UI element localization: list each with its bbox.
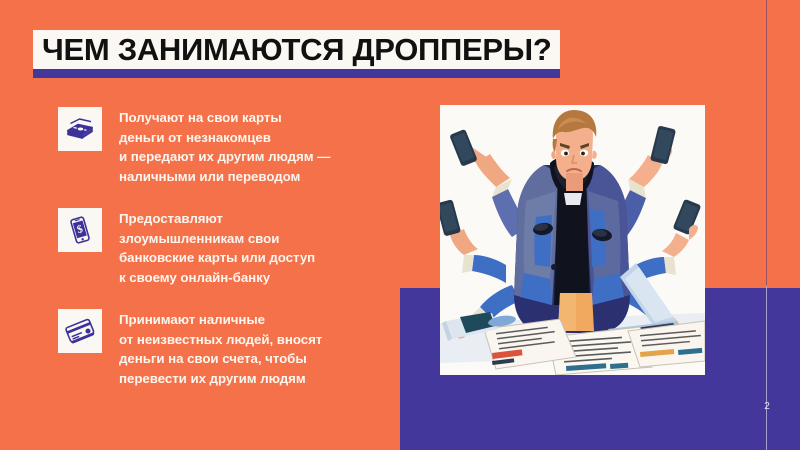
slide: ЧЕМ ЗАНИМАЮТСЯ ДРОППЕРЫ? (0, 0, 800, 450)
list-item-text: Принимают наличные от неизвестных людей,… (119, 309, 322, 388)
page-title: ЧЕМ ЗАНИМАЮТСЯ ДРОППЕРЫ? (33, 30, 560, 78)
bullet-line: к своему онлайн-банку (119, 268, 315, 288)
list-item: Принимают наличные от неизвестных людей,… (58, 309, 388, 388)
bullet-line: злоумышленникам свои (119, 229, 315, 249)
bullet-line: деньги от незнакомцев (119, 128, 330, 148)
title-text: ЧЕМ ЗАНИМАЮТСЯ ДРОППЕРЫ? (42, 33, 551, 67)
bullet-list: Получают на свои карты деньги от незнако… (58, 107, 388, 410)
bullet-line: перевести их другим людям (119, 369, 322, 389)
page-number: 2 (758, 401, 776, 413)
bullet-line: банковские карты или доступ (119, 248, 315, 268)
list-item-text: Получают на свои карты деньги от незнако… (119, 107, 330, 186)
bullet-line: Получают на свои карты (119, 108, 330, 128)
mobile-banking-icon: $ (58, 208, 102, 252)
list-item-text: Предоставляют злоумышленникам свои банко… (119, 208, 315, 287)
bullet-line: Принимают наличные (119, 310, 322, 330)
bullet-line: Предоставляют (119, 209, 315, 229)
money-mule-multiple-phones-illustration (440, 105, 705, 375)
right-edge-rule (766, 0, 767, 450)
list-item: $ Предоставляют злоумышленникам свои бан… (58, 208, 388, 287)
title-bar: ЧЕМ ЗАНИМАЮТСЯ ДРОППЕРЫ? (33, 30, 560, 69)
list-item: Получают на свои карты деньги от незнако… (58, 107, 388, 186)
bullet-line: наличными или переводом (119, 167, 330, 187)
bullet-line: от неизвестных людей, вносят (119, 330, 322, 350)
title-underline (33, 69, 560, 78)
cash-stack-icon (58, 107, 102, 151)
bullet-line: деньги на свои счета, чтобы (119, 349, 322, 369)
bullet-line: и передают их другим людям — (119, 147, 330, 167)
bank-card-icon (58, 309, 102, 353)
